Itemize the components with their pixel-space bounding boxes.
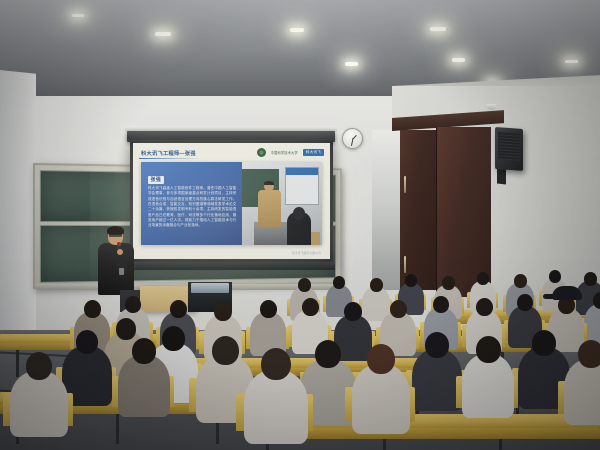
audience-member — [250, 300, 286, 344]
audience-member — [380, 300, 416, 344]
audience-head — [405, 274, 417, 287]
audience-head — [433, 296, 449, 313]
audience-head — [261, 348, 291, 380]
audience-head — [442, 276, 455, 290]
audience-member — [118, 338, 170, 400]
audience-head — [116, 318, 136, 340]
audience-torso — [244, 370, 308, 444]
audience-torso — [462, 354, 514, 418]
audience-head — [584, 272, 597, 286]
audience-head — [26, 352, 52, 380]
audience-layer — [0, 0, 600, 450]
lecture-hall-screenshot: 科大讯飞工程师—张强 中国科学技术大学 科大讯飞 张强 科大讯飞高级人工智能软件… — [0, 0, 600, 450]
audience-head — [315, 340, 341, 368]
audience-head — [170, 300, 187, 318]
audience-head — [549, 270, 561, 283]
audience-member — [412, 332, 462, 394]
audience-member — [352, 344, 410, 414]
audience-torso — [412, 349, 462, 411]
audience-head — [477, 272, 489, 285]
audience-head — [260, 300, 277, 318]
audience-head — [212, 336, 239, 365]
audience-head — [370, 278, 383, 292]
audience-head — [425, 332, 449, 358]
audience-member — [244, 348, 308, 422]
audience-head — [214, 302, 232, 321]
audience-torso — [118, 355, 170, 417]
audience-head — [344, 302, 362, 321]
audience-member — [564, 340, 600, 406]
cap-brim — [543, 294, 559, 299]
audience-head — [298, 278, 311, 292]
audience-member — [62, 330, 112, 390]
audience-head — [514, 274, 527, 288]
audience-head — [517, 294, 533, 311]
audience-head — [476, 336, 501, 363]
student-with-black-cap — [552, 286, 582, 300]
audience-head — [84, 300, 101, 318]
audience-head — [367, 344, 395, 374]
audience-head — [390, 300, 407, 318]
audience-head — [578, 340, 600, 368]
audience-head — [132, 338, 156, 364]
audience-torso — [352, 364, 410, 434]
audience-head — [125, 296, 141, 313]
audience-member — [462, 336, 514, 400]
audience-member — [292, 298, 328, 342]
audience-head — [302, 298, 319, 316]
audience-head — [76, 330, 98, 354]
audience-head — [476, 298, 493, 316]
audience-head — [532, 330, 556, 356]
audience-torso — [564, 359, 600, 425]
audience-torso — [10, 371, 68, 437]
audience-head — [333, 276, 345, 289]
audience-member — [10, 352, 68, 418]
